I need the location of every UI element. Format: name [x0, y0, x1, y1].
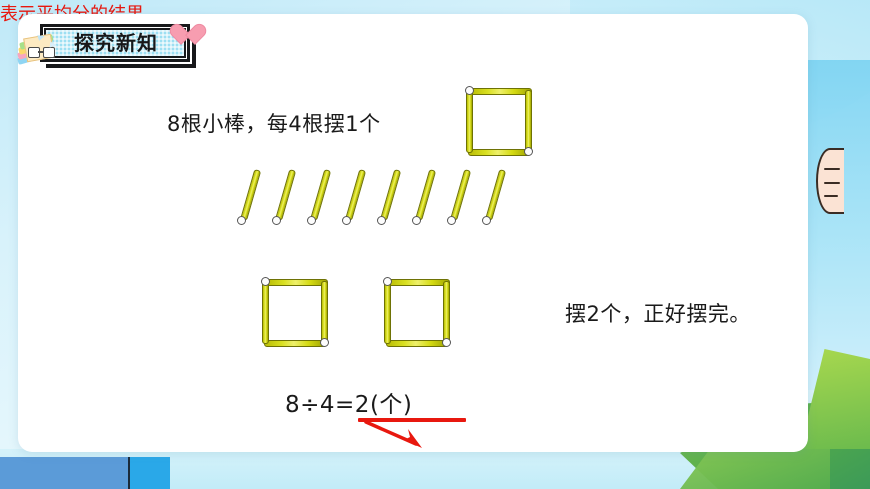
hand-finger-line — [824, 195, 838, 197]
glasses-lens-right — [43, 47, 55, 58]
prompt-text: 8根小棒，每4根摆1个 — [167, 108, 381, 138]
banner-title-text: 探究新知 — [48, 30, 184, 56]
loose-stick — [380, 169, 401, 221]
stick-right — [321, 281, 328, 343]
equation-text: 8÷4=2(个) — [285, 385, 412, 419]
stick-square-example — [466, 88, 534, 156]
banner-shadow-bottom — [46, 64, 196, 68]
red-arrow-icon — [364, 420, 434, 454]
background-blue-strip-2 — [128, 457, 170, 489]
stick-square-result — [262, 279, 330, 347]
loose-stick — [415, 169, 436, 221]
paper-plane-icon — [50, 42, 58, 49]
stick-cap — [272, 216, 281, 225]
stick-cap — [377, 216, 386, 225]
stick-cap — [320, 338, 329, 347]
background-blue-strip — [0, 457, 130, 489]
stick-top — [470, 88, 532, 95]
slide-canvas: 探究新知 8根小棒，每4根摆1个 — [0, 0, 870, 489]
stick-cap — [307, 216, 316, 225]
stick-bottom — [468, 149, 530, 156]
hand-illustration — [816, 148, 844, 214]
stick-bottom — [264, 340, 326, 347]
stick-bottom — [386, 340, 448, 347]
loose-stick — [345, 169, 366, 221]
leaf-icon — [800, 349, 870, 449]
loose-stick — [485, 169, 506, 221]
loose-stick — [450, 169, 471, 221]
stick-top — [388, 279, 450, 286]
loose-sticks-group — [232, 168, 512, 234]
stick-cap — [442, 338, 451, 347]
stick-left — [262, 282, 269, 344]
background-divider-line — [128, 457, 130, 489]
loose-stick — [275, 169, 296, 221]
stick-left — [384, 282, 391, 344]
stick-square-result — [384, 279, 452, 347]
books-icon — [16, 34, 60, 70]
stick-cap — [447, 216, 456, 225]
stick-cap — [412, 216, 421, 225]
stick-right — [525, 90, 532, 152]
stick-cap — [465, 86, 474, 95]
stick-top — [266, 279, 328, 286]
stick-cap — [383, 277, 392, 286]
glasses-icon — [28, 47, 56, 57]
stick-right — [443, 281, 450, 343]
heart-icon — [180, 22, 204, 44]
loose-stick — [310, 169, 331, 221]
stick-cap — [261, 277, 270, 286]
stick-cap — [342, 216, 351, 225]
result-text: 摆2个，正好摆完。 — [565, 298, 751, 328]
stick-left — [466, 91, 473, 153]
glasses-bridge — [38, 51, 43, 53]
section-banner: 探究新知 — [12, 20, 194, 64]
stick-cap — [482, 216, 491, 225]
loose-stick — [240, 169, 261, 221]
stick-cap — [237, 216, 246, 225]
stick-cap — [524, 147, 533, 156]
